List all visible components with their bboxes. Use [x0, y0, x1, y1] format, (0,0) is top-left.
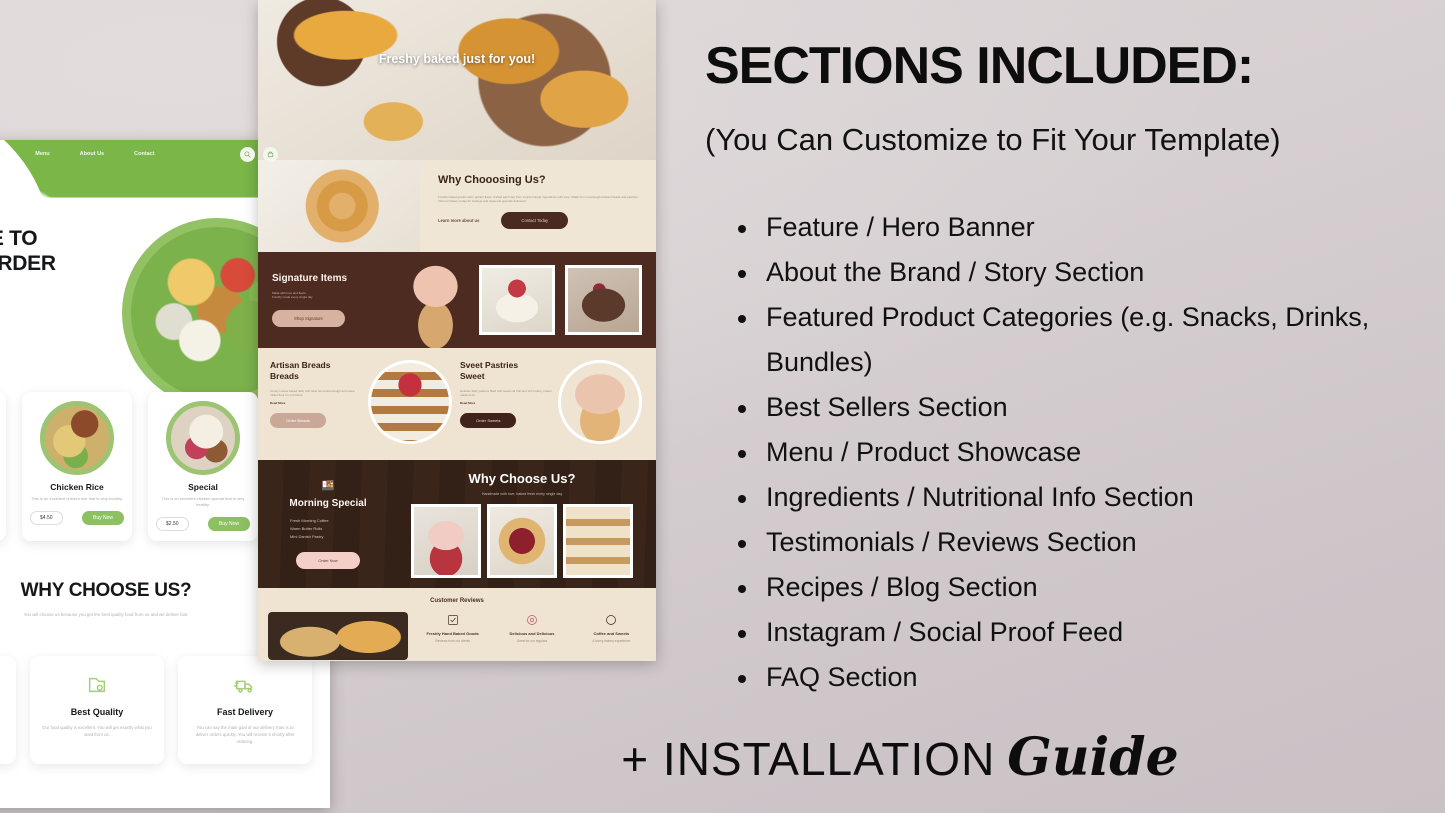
- review-feature-title: Freshly Hand Baked Goods: [418, 631, 487, 636]
- morning-item: Warm Butter Rolls: [290, 526, 388, 531]
- review-feature-title: Delicious and Delicious: [497, 631, 566, 636]
- product-desc: This is an excellent chicken special tha…: [156, 496, 250, 508]
- search-icon[interactable]: [240, 147, 255, 162]
- why-choosing-us-section: Why Chooosing Us? Freshly baked goods wa…: [258, 160, 656, 252]
- nav-link-contact[interactable]: Contact: [134, 151, 154, 157]
- artisan-column: Artisan Breads Breads Crusty loaves bake…: [270, 360, 454, 460]
- nav-link-menu[interactable]: Menu: [35, 151, 49, 157]
- morning-special-section: 🍱 Morning Special Fresh Morning Coffee W…: [258, 460, 656, 588]
- installation-label: + INSTALLATION: [621, 733, 995, 785]
- morning-item: Mini Danish Pastry: [290, 534, 388, 539]
- morning-special-title: Morning Special: [268, 498, 388, 509]
- page-title: SECTIONS INCLUDED:: [705, 36, 1253, 96]
- sections-list: Feature / Hero Banner About the Brand / …: [730, 205, 1430, 700]
- product-card[interactable]: Chicken Pizza This is an excellent chick…: [0, 392, 6, 541]
- product-price: $2.50: [156, 517, 189, 531]
- dessert-thumbnail: [487, 504, 557, 578]
- list-item: Featured Product Categories (e.g. Snacks…: [730, 295, 1430, 385]
- review-feature-sub: Great for our regulars: [497, 639, 566, 643]
- dessert-thumbnail-list: [398, 504, 646, 578]
- why-choose-us-subtitle: You will choose us because you get the b…: [1, 611, 211, 618]
- installation-guide-footer: + INSTALLATIONGuide: [520, 727, 1280, 788]
- artisan-breads-section: Artisan Breads Breads Crusty loaves bake…: [258, 348, 656, 460]
- buy-now-button[interactable]: Buy Now: [208, 517, 250, 531]
- morning-special-items: Fresh Morning Coffee Warm Butter Rolls M…: [268, 518, 388, 539]
- sections-included-panel: SECTIONS INCLUDED: (You Can Customize to…: [700, 0, 1445, 813]
- nav-link-home[interactable]: Home: [0, 151, 5, 157]
- cupcake-image: [402, 260, 469, 348]
- morning-why-choose-us-title: Why Choose Us?: [398, 471, 646, 486]
- feature-card[interactable]: Fast Delivery You can say the main goal …: [178, 656, 312, 764]
- product-image: [40, 401, 114, 475]
- check-box-icon: [447, 614, 459, 626]
- product-desc: This is an excellent chicken rice that i…: [30, 496, 124, 502]
- pastries-read-more-link[interactable]: Read More: [460, 401, 552, 405]
- product-image: [166, 401, 240, 475]
- review-feature: Freshly Hand Baked Goods Reviews from ou…: [418, 612, 487, 643]
- morning-why-choose-us-sub: Handmade with love, baked fresh every si…: [398, 492, 646, 496]
- product-card[interactable]: Special This is an excellent chicken spe…: [148, 392, 258, 541]
- product-name: Chicken Rice: [30, 482, 124, 492]
- signature-sub-2: Freshly made every single day: [272, 295, 392, 299]
- artisan-column: Sveet Pastries Sweet Delicate flaky past…: [460, 360, 644, 460]
- why-choosing-us-body: Freshly baked goods warm golden flavor c…: [438, 195, 640, 203]
- list-item: Instagram / Social Proof Feed: [730, 610, 1430, 655]
- customer-reviews-section: Customer Reviews Freshly Hand Baked Good…: [258, 588, 656, 661]
- contact-today-button[interactable]: Contact Today: [501, 212, 568, 229]
- feature-desc: You can say the main goal of our deliver…: [190, 724, 300, 745]
- list-item: Testimonials / Reviews Section: [730, 520, 1430, 565]
- list-item: FAQ Section: [730, 655, 1430, 700]
- list-item: Ingredients / Nutritional Info Section: [730, 475, 1430, 520]
- bakery-bag-icon: 🍱: [268, 479, 388, 492]
- feature-card-list: Fresh Food Our food is always fresh. You…: [0, 656, 330, 764]
- why-choosing-us-title: Why Chooosing Us?: [438, 174, 640, 186]
- signature-items-section: Signature Items Made with love and flavo…: [258, 252, 656, 348]
- feature-desc: Our food quality is excellent. You will …: [42, 724, 152, 738]
- order-sweets-button[interactable]: Order Sweets: [460, 413, 516, 428]
- review-feature-sub: A lovely bakery experience: [577, 639, 646, 643]
- list-item: Best Sellers Section: [730, 385, 1430, 430]
- product-price: $4.50: [30, 511, 63, 525]
- feature-card[interactable]: Best Quality Our food quality is excelle…: [30, 656, 164, 764]
- artisan-read-more-link[interactable]: Read More: [270, 401, 362, 405]
- hero-title-line1: WELCOME TO: [0, 226, 56, 251]
- review-feature: Coffee and Sweets A lovely bakery experi…: [577, 612, 646, 643]
- order-breads-button[interactable]: Order Breads: [270, 413, 326, 428]
- bakery-hero-image: [258, 0, 656, 160]
- guide-script-label: Guide: [1007, 727, 1178, 788]
- shop-signature-button[interactable]: Shop Signature: [272, 310, 345, 327]
- bread-round-image: [368, 360, 452, 444]
- dessert-thumbnail: [563, 504, 633, 578]
- pastries-body: Delicate flaky pastries filled with seas…: [460, 389, 552, 397]
- poster-canvas: Home Menu About Us Contact WELCOME TO FO…: [0, 0, 1445, 813]
- leaf-icon: [0, 672, 4, 698]
- hero-title-line2: FOOD & ORDER: [0, 251, 56, 276]
- dessert-frame-image: [479, 265, 556, 335]
- list-item: Feature / Hero Banner: [730, 205, 1430, 250]
- left-nav-links[interactable]: Home Menu About Us Contact: [0, 151, 155, 157]
- cart-icon[interactable]: [263, 147, 278, 162]
- left-hero-title: WELCOME TO FOOD & ORDER: [0, 226, 56, 276]
- list-item: Recipes / Blog Section: [730, 565, 1430, 610]
- review-feature-sub: Reviews from our clients: [418, 639, 487, 643]
- product-card[interactable]: Chicken Rice This is an excellent chicke…: [22, 392, 132, 541]
- dessert-frame-image: [565, 265, 642, 335]
- review-feature: Delicious and Delicious Great for our re…: [497, 612, 566, 643]
- signature-items-title: Signature Items: [272, 273, 392, 284]
- pastries-title: Sveet Pastries Sweet: [460, 360, 552, 382]
- feature-title: Best Quality: [42, 707, 152, 717]
- nav-link-about-us[interactable]: About Us: [80, 151, 104, 157]
- artisan-title: Artisan Breads Breads: [270, 360, 362, 382]
- review-feature-title: Coffee and Sweets: [577, 631, 646, 636]
- circle-target-icon: [526, 614, 538, 626]
- bakery-hero-text: Freshy baked just for you!: [258, 52, 656, 66]
- morning-item: Fresh Morning Coffee: [290, 518, 388, 523]
- feature-desc: Our food is always fresh. You will recei…: [0, 724, 4, 738]
- product-name: Special: [156, 482, 250, 492]
- delivery-truck-icon: [190, 672, 300, 698]
- croissant-ring-image: [258, 160, 420, 252]
- customer-reviews-title: Customer Reviews: [258, 598, 656, 604]
- bakery-website-mockup: Freshy baked just for you! Why Chooosing…: [258, 0, 656, 661]
- list-item: Menu / Product Showcase: [730, 430, 1430, 475]
- feature-title: Fast Delivery: [190, 707, 300, 717]
- feature-title: Fresh Food: [0, 707, 4, 717]
- quality-badge-icon: [42, 672, 152, 698]
- bakery-reviews-image: [268, 612, 408, 660]
- left-nav-icons[interactable]: [240, 147, 278, 162]
- artisan-body: Crusty loaves baked daily with slow ferm…: [270, 389, 362, 397]
- dessert-thumbnail: [411, 504, 481, 578]
- feature-card[interactable]: Fresh Food Our food is always fresh. You…: [0, 656, 16, 764]
- page-subtitle: (You Can Customize to Fit Your Template): [705, 122, 1281, 158]
- order-now-button[interactable]: Order Now: [296, 552, 359, 569]
- learn-more-label: Learn more about us: [438, 218, 479, 223]
- buy-now-button[interactable]: Buy Now: [82, 511, 124, 525]
- list-item: About the Brand / Story Section: [730, 250, 1430, 295]
- pastry-round-image: [558, 360, 642, 444]
- coffee-cup-icon: [605, 614, 617, 626]
